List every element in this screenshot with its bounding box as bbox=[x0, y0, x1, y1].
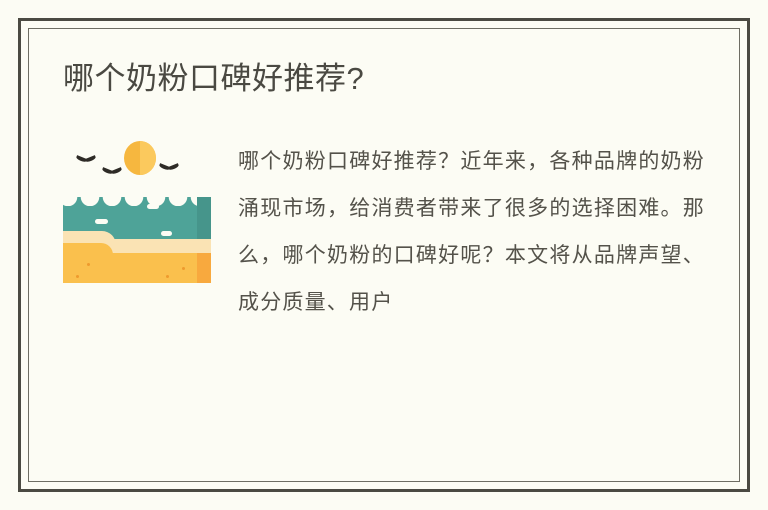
sun-icon bbox=[124, 141, 156, 175]
page-root: 哪个奶粉口碑好推荐? bbox=[0, 0, 768, 510]
sand-shadow bbox=[197, 253, 211, 283]
article-thumbnail bbox=[63, 135, 211, 283]
article-excerpt: 哪个奶粉口碑好推荐？近年来，各种品牌的奶粉涌现市场，给消费者带来了很多的选择困难… bbox=[238, 138, 705, 326]
article-content: 哪个奶粉口碑好推荐? bbox=[29, 29, 739, 481]
page-frame-inner: 哪个奶粉口碑好推荐? bbox=[28, 28, 740, 482]
sand-grain bbox=[87, 263, 90, 266]
sand-grain bbox=[166, 275, 169, 278]
article-body: 哪个奶粉口碑好推荐？近年来，各种品牌的奶粉涌现市场，给消费者带来了很多的选择困难… bbox=[63, 135, 705, 326]
page-title: 哪个奶粉口碑好推荐? bbox=[63, 59, 705, 99]
water-ripple bbox=[147, 204, 159, 209]
water-ripple bbox=[161, 231, 172, 236]
sand-grain bbox=[76, 275, 79, 278]
page-frame-outer: 哪个奶粉口碑好推荐? bbox=[18, 18, 750, 492]
wave-crest bbox=[63, 188, 211, 206]
sand-grain bbox=[182, 267, 185, 270]
water-ripple bbox=[95, 219, 108, 224]
sand-area bbox=[63, 253, 211, 283]
